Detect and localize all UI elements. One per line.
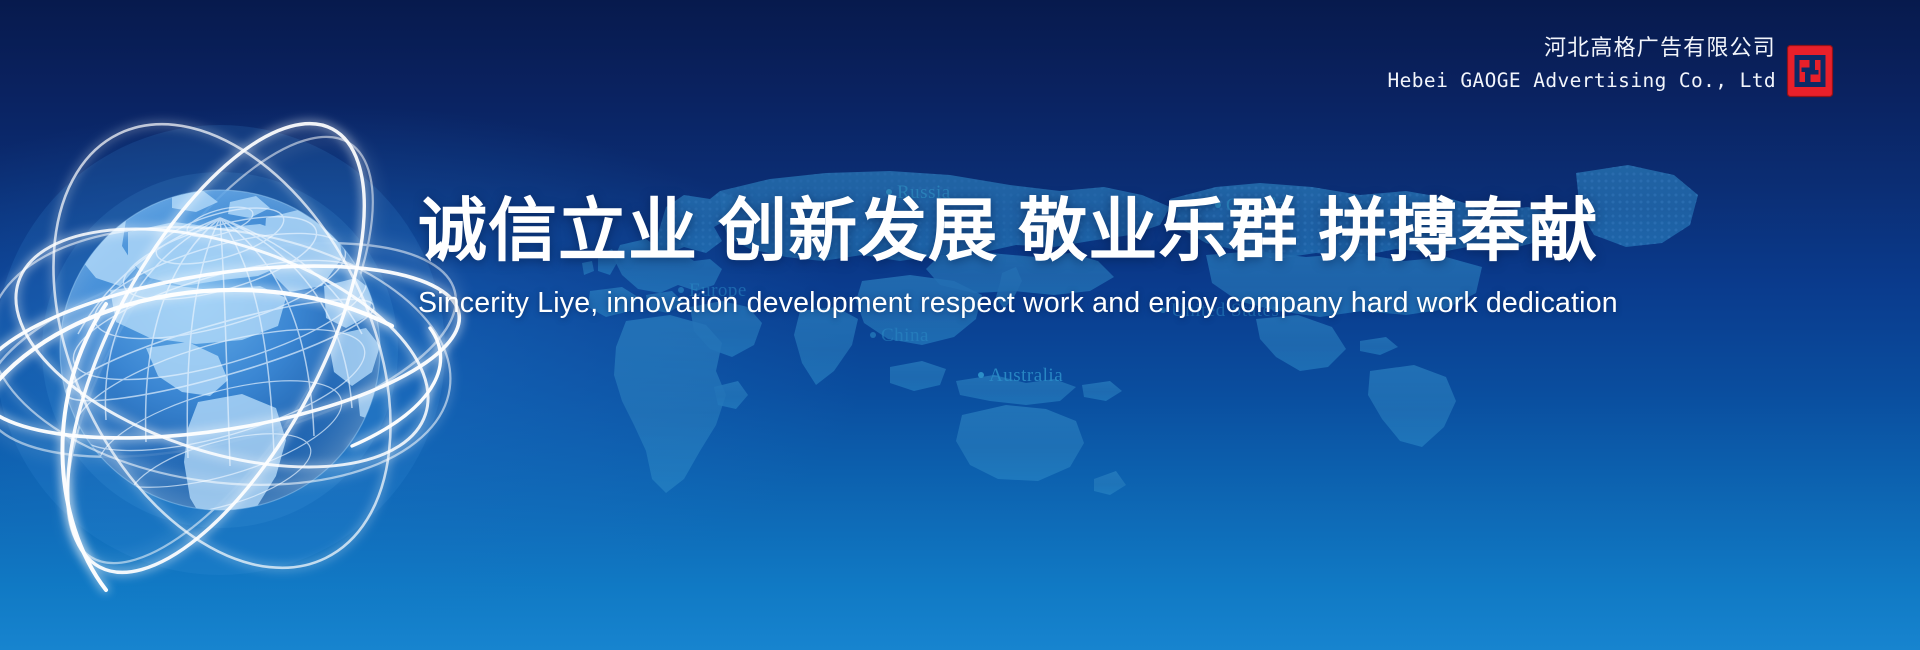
gaoge-logo-icon [1786,44,1834,98]
company-name-cn: 河北高格广告有限公司 [1388,36,1776,63]
company-identity: 河北高格广告有限公司 Hebei GAOGE Advertising Co., … [1388,36,1776,93]
slogan-block: 诚信立业 创新发展 敬业乐群 拼搏奉献 Sincerity Liye, inno… [418,196,1518,320]
slogan-chinese: 诚信立业 创新发展 敬业乐群 拼搏奉献 [418,196,1518,265]
company-name-en: Hebei GAOGE Advertising Co., Ltd [1388,69,1776,93]
map-label-china: China [870,325,929,347]
globe-wireframe [59,197,381,531]
orbiting-globe-graphic [0,90,480,610]
orbit-rings [0,69,471,623]
map-label-australia: Australia [978,365,1063,387]
company-banner: Russia Europe China Canada United States… [0,0,1920,650]
slogan-english: Sincerity Liye, innovation development r… [418,287,1518,320]
globe-continents [70,190,390,532]
